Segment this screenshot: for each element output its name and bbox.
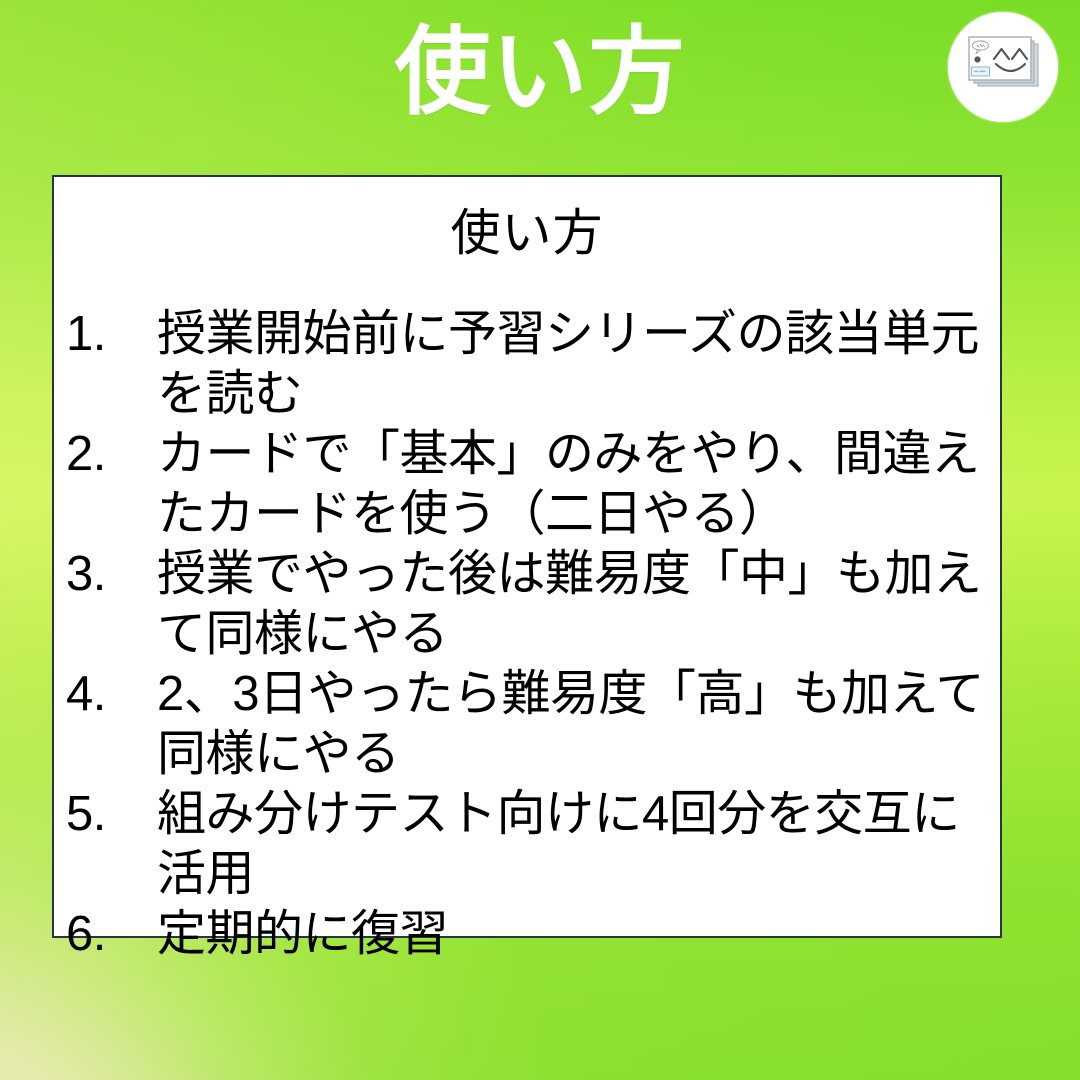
content-panel: 使い方 1. 授業開始前に予習シリーズの該当単元を読む 2. カードで「基本」の…	[52, 175, 1002, 938]
list-item-text: 組み分けテスト向けに4回分を交互に活用	[157, 784, 994, 904]
list-item-number: 2.	[64, 424, 157, 484]
list-item-number: 6.	[64, 904, 157, 964]
list-item: 6. 定期的に復習	[64, 904, 994, 964]
list-item: 2. カードで「基本」のみをやり、間違えたカードを使う（二日やる）	[64, 424, 994, 544]
list-item: 5. 組み分けテスト向けに4回分を交互に活用	[64, 784, 994, 904]
flashcard-smiley-logo-icon	[948, 12, 1058, 122]
list-item: 4. 2、3日やったら難易度「高」も加えて同様にやる	[64, 664, 994, 784]
page-title: 使い方	[0, 14, 1080, 132]
list-item-text: 定期的に復習	[157, 904, 994, 964]
slide-canvas: 使い方	[0, 0, 1080, 1080]
list-item: 1. 授業開始前に予習シリーズの該当単元を読む	[64, 304, 994, 424]
list-item: 3. 授業でやった後は難易度「中」も加えて同様にやる	[64, 544, 994, 664]
slide-header: 使い方	[0, 0, 1080, 160]
list-item-number: 1.	[64, 304, 157, 364]
list-item-text: 2、3日やったら難易度「高」も加えて同様にやる	[157, 664, 994, 784]
list-item-number: 4.	[64, 664, 157, 724]
list-item-text: 授業開始前に予習シリーズの該当単元を読む	[157, 304, 994, 424]
list-item-number: 3.	[64, 544, 157, 604]
list-item-text: 授業でやった後は難易度「中」も加えて同様にやる	[157, 544, 994, 664]
panel-heading: 使い方	[54, 177, 1000, 265]
list-item-number: 5.	[64, 784, 157, 844]
usage-steps-list: 1. 授業開始前に予習シリーズの該当単元を読む 2. カードで「基本」のみをやり…	[64, 304, 994, 964]
list-item-text: カードで「基本」のみをやり、間違えたカードを使う（二日やる）	[157, 424, 994, 544]
